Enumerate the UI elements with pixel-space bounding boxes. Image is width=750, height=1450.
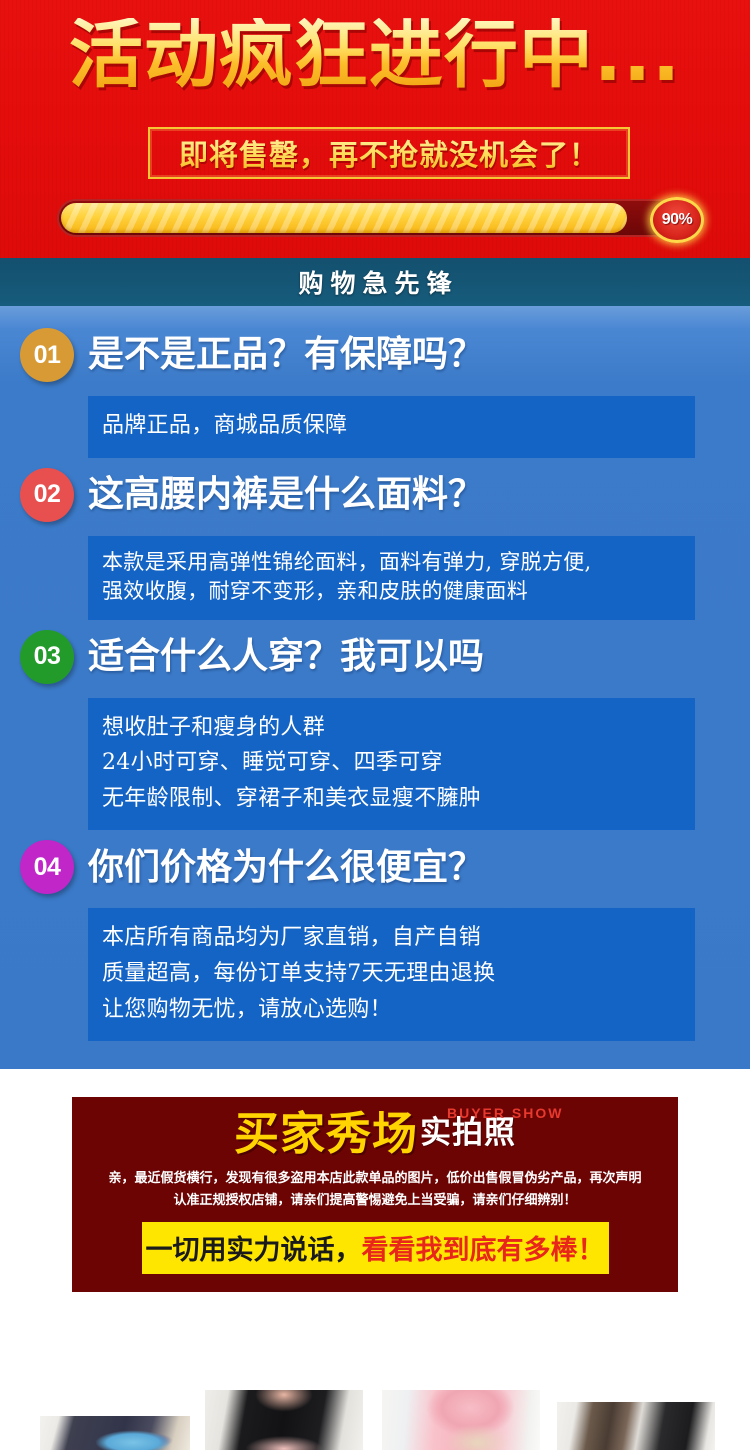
faq-question-text: 是不是正品？有保障吗？ bbox=[88, 335, 484, 375]
progress-knob: 90% bbox=[650, 197, 704, 243]
buyer-show-highlight-bar: 一切用实力说话，看看我到底有多棒！ bbox=[142, 1222, 609, 1274]
faq-answer-box: 想收肚子和瘦身的人群 24小时可穿、睡觉可穿、四季可穿 无年龄限制、穿裙子和美衣… bbox=[88, 698, 695, 831]
buyer-show-title-row: 买家秀场实拍照 BUYER SHOW bbox=[234, 1111, 516, 1156]
section-header-band: 购物急先锋 bbox=[0, 258, 750, 306]
faq-question-text: 适合什么人穿？我可以吗 bbox=[88, 637, 484, 677]
faq-question-text: 这高腰内裤是什么面料？ bbox=[88, 475, 484, 515]
section-header-title: 购物急先锋 bbox=[291, 264, 458, 300]
buyer-show-title: 买家秀场 bbox=[234, 1107, 418, 1160]
progress-percent-label: 90% bbox=[662, 211, 693, 229]
photo-image bbox=[382, 1390, 540, 1450]
buyer-show-highlight-red: 看看我到底有多棒！ bbox=[362, 1235, 605, 1266]
faq-item: 01 是不是正品？有保障吗？ 品牌正品，商城品质保障 bbox=[0, 324, 750, 464]
buyer-show-warning-line: 亲，最近假货横行，发现有很多盗用本店此款单品的图片，低价出售假冒伪劣产品，再次声… bbox=[72, 1168, 678, 1189]
buyer-show-title-en: BUYER SHOW bbox=[447, 1106, 563, 1120]
faq-number-badge: 04 bbox=[20, 840, 74, 894]
buyer-photo-thumbnail[interactable] bbox=[40, 1416, 190, 1450]
faq-question-row: 04 你们价格为什么很便宜？ bbox=[0, 836, 750, 898]
buyer-show-warning: 亲，最近假货横行，发现有很多盗用本店此款单品的图片，低价出售假冒伪劣产品，再次声… bbox=[72, 1168, 678, 1211]
faq-number-badge: 01 bbox=[20, 328, 74, 382]
faq-answer-box: 品牌正品，商城品质保障 bbox=[88, 396, 695, 458]
photo-image bbox=[205, 1390, 363, 1450]
stock-progress-bar: 90% bbox=[57, 199, 697, 237]
faq-answer-line: 24小时可穿、睡觉可穿、四季可穿 bbox=[102, 745, 681, 781]
buyer-photo-thumbnail[interactable] bbox=[557, 1402, 715, 1450]
faq-answer-box: 本店所有商品均为厂家直销，自产自销 质量超高，每份订单支持7天无理由退换 让您购… bbox=[88, 908, 695, 1041]
faq-question-text: 你们价格为什么很便宜？ bbox=[88, 848, 484, 888]
faq-item: 02 这高腰内裤是什么面料？ 本款是采用高弹性锦纶面料，面料有弹力, 穿脱方便,… bbox=[0, 464, 750, 626]
faq-answer-line: 让您购物无忧，请放心选购！ bbox=[102, 992, 681, 1028]
faq-answer-line: 本款是采用高弹性锦纶面料，面料有弹力, 穿脱方便, bbox=[102, 548, 681, 577]
faq-question-row: 03 适合什么人穿？我可以吗 bbox=[0, 626, 750, 688]
photo-image bbox=[40, 1416, 190, 1450]
buyer-photo-strip bbox=[0, 1390, 750, 1450]
faq-answer-line: 品牌正品，商城品质保障 bbox=[102, 408, 681, 444]
faq-question-row: 01 是不是正品？有保障吗？ bbox=[0, 324, 750, 386]
hero-subtitle-box: 即将售罄，再不抢就没机会了！ bbox=[148, 127, 630, 179]
buyer-show-warning-line: 认准正规授权店铺，请亲们提高警惕避免上当受骗，请亲们仔细辨别！ bbox=[72, 1190, 678, 1211]
faq-answer-line: 无年龄限制、穿裙子和美衣显瘦不臃肿 bbox=[102, 781, 681, 817]
faq-answer-box: 本款是采用高弹性锦纶面料，面料有弹力, 穿脱方便, 强效收腹，耐穿不变形，亲和皮… bbox=[88, 536, 695, 620]
faq-answer-line: 本店所有商品均为厂家直销，自产自销 bbox=[102, 920, 681, 956]
buyer-show-highlight-black: 一切用实力说话， bbox=[146, 1235, 362, 1266]
hero-subtitle: 即将售罄，再不抢就没机会了！ bbox=[179, 132, 599, 174]
promo-hero-banner: 活动疯狂进行中... 即将售罄，再不抢就没机会了！ 90% bbox=[0, 0, 750, 258]
faq-number-badge: 03 bbox=[20, 630, 74, 684]
faq-section: 01 是不是正品？有保障吗？ 品牌正品，商城品质保障 02 这高腰内裤是什么面料… bbox=[0, 306, 750, 1069]
page-title: 活动疯狂进行中... bbox=[0, 18, 750, 92]
photo-image bbox=[557, 1402, 715, 1450]
faq-answer-line: 质量超高，每份订单支持7天无理由退换 bbox=[102, 956, 681, 992]
faq-item: 04 你们价格为什么很便宜？ 本店所有商品均为厂家直销，自产自销 质量超高，每份… bbox=[0, 836, 750, 1047]
faq-number-badge: 02 bbox=[20, 468, 74, 522]
faq-answer-line: 强效收腹，耐穿不变形，亲和皮肤的健康面料 bbox=[102, 577, 681, 606]
faq-question-row: 02 这高腰内裤是什么面料？ bbox=[0, 464, 750, 526]
faq-answer-line: 想收肚子和瘦身的人群 bbox=[102, 710, 681, 746]
buyer-photo-thumbnail[interactable] bbox=[205, 1390, 363, 1450]
buyer-photo-thumbnail[interactable] bbox=[382, 1390, 540, 1450]
buyer-show-spacer bbox=[0, 1069, 750, 1097]
buyer-show-banner: 买家秀场实拍照 BUYER SHOW 亲，最近假货横行，发现有很多盗用本店此款单… bbox=[72, 1097, 678, 1292]
progress-fill bbox=[61, 203, 627, 233]
faq-item: 03 适合什么人穿？我可以吗 想收肚子和瘦身的人群 24小时可穿、睡觉可穿、四季… bbox=[0, 626, 750, 837]
